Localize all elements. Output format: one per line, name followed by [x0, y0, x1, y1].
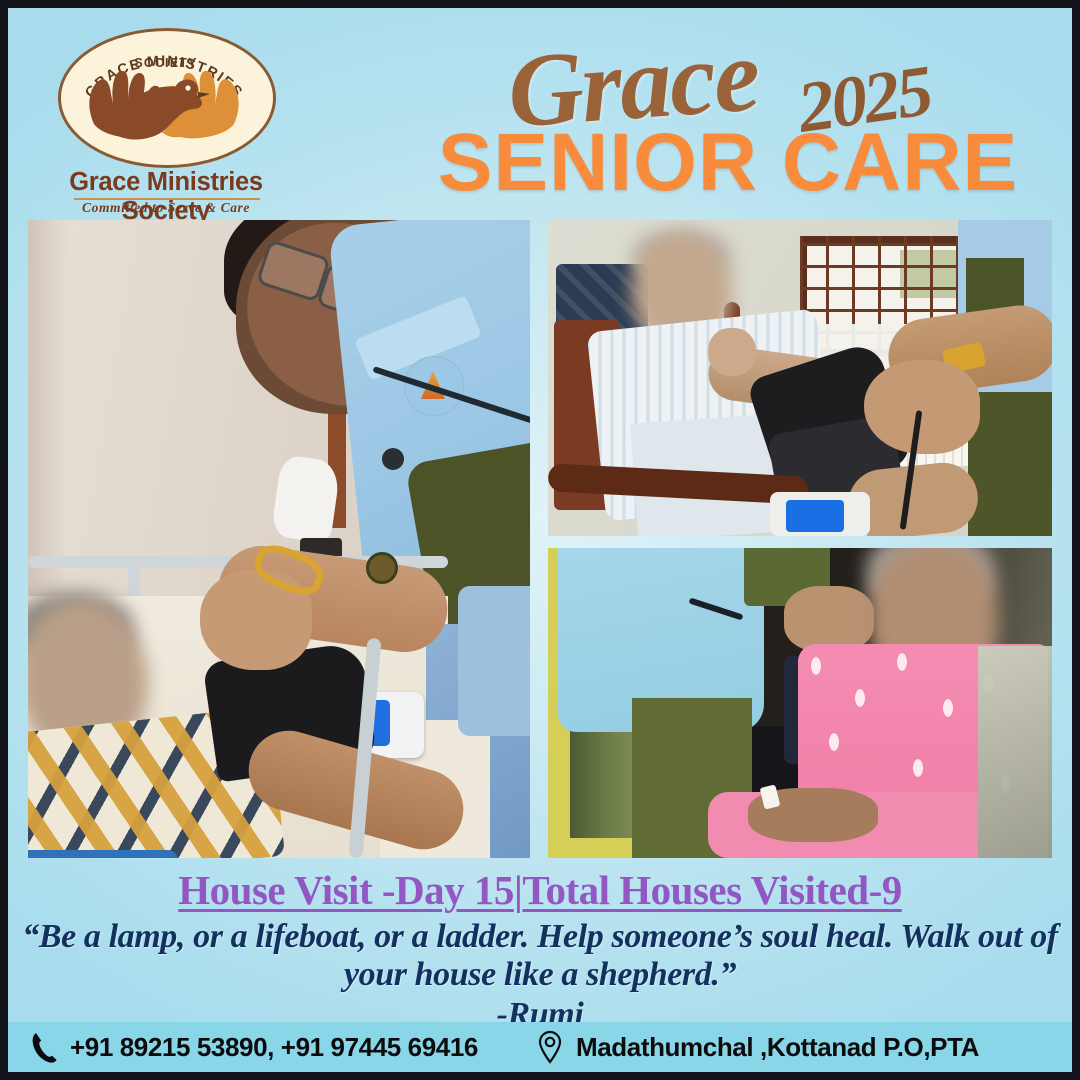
caption-day: House Visit -Day 15 — [178, 867, 514, 913]
poster-root: GRACE MINISTRIES SOC — [0, 0, 1080, 1080]
poster-frame: GRACE MINISTRIES SOC — [0, 0, 1080, 1080]
quote-line-1: “Be a lamp, or a lifeboat, or a ladder. … — [22, 918, 970, 955]
poster-title-block: Grace 2025 SENIOR CARE — [478, 16, 1072, 206]
phone-number: +91 89215 53890, +91 97445 69416 — [70, 1032, 478, 1063]
page-title: SENIOR CARE — [368, 116, 1072, 210]
organization-logo: GRACE MINISTRIES SOC — [36, 20, 296, 220]
address-text: Madathumchal ,Kottanad P.O,PTA — [576, 1032, 979, 1063]
poster-canvas: GRACE MINISTRIES SOC — [8, 8, 1072, 1072]
caption-total: Total Houses Visited-9 — [522, 867, 901, 913]
contact-footer: +91 89215 53890, +91 97445 69416 Madathu… — [8, 1022, 1072, 1072]
location-pin-icon — [534, 1030, 566, 1064]
photo-nurse-bp-bedside — [28, 220, 530, 858]
phone-icon — [28, 1030, 60, 1064]
photo-bp-check-seated — [548, 220, 1052, 536]
logo-org-name: Grace Ministries Society — [36, 168, 296, 226]
footer-phone-item[interactable]: +91 89215 53890, +91 97445 69416 — [28, 1030, 478, 1064]
footer-location-item[interactable]: Madathumchal ,Kottanad P.O,PTA — [534, 1030, 979, 1064]
logo-oval-badge — [58, 28, 276, 168]
visit-caption: House Visit -Day 15|Total Houses Visited… — [8, 866, 1072, 914]
logo-society-text: SOCIETY — [36, 56, 296, 70]
quote-block: “Be a lamp, or a lifeboat, or a ladder. … — [20, 918, 1060, 1034]
photo-nurse-handing-note — [548, 548, 1052, 858]
logo-tagline: Committed to Serve & Care — [36, 200, 296, 216]
